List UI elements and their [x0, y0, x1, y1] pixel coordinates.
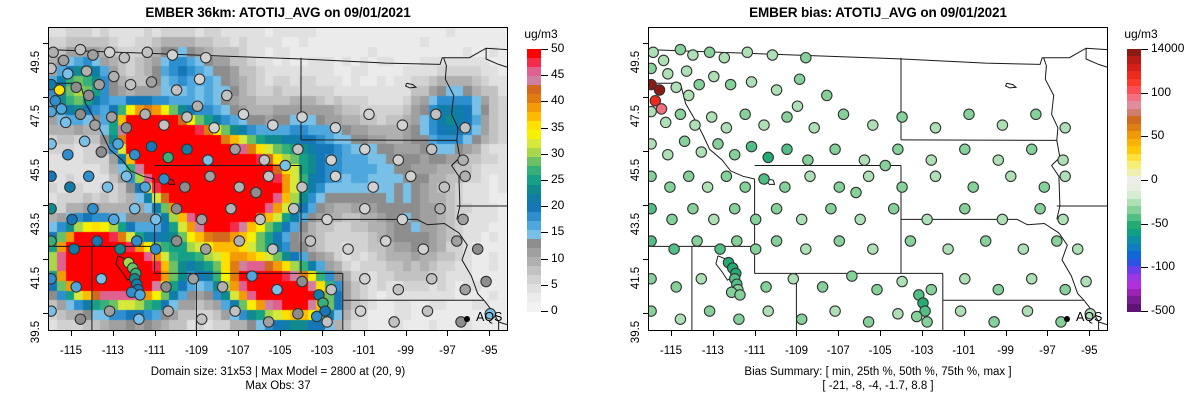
station-marker [993, 155, 1003, 165]
station-marker [1022, 306, 1032, 316]
station-marker [1058, 214, 1068, 224]
station-marker [397, 214, 407, 224]
station-marker [75, 109, 85, 119]
station-marker [1060, 123, 1070, 133]
station-marker [360, 204, 370, 214]
station-marker [171, 85, 181, 95]
station-marker [855, 214, 865, 224]
station-marker [326, 284, 336, 294]
colorbar-tick [541, 232, 548, 233]
station-marker [690, 120, 700, 130]
station-marker [792, 101, 802, 111]
y-tick [43, 43, 48, 44]
station-marker [322, 214, 332, 224]
station-marker [230, 144, 240, 154]
observation-stations-bias [649, 28, 1107, 330]
map-frame-bias: AQS [648, 27, 1108, 331]
x-tick-label: -109 [173, 345, 219, 357]
colorbar-title-model: ug/m3 [514, 27, 568, 41]
x-tick [155, 331, 156, 336]
x-tick [1047, 331, 1048, 336]
colorbar-tick [541, 154, 548, 155]
station-marker [926, 284, 936, 294]
station-marker [389, 317, 399, 327]
x-tick-label: -115 [648, 345, 694, 357]
y-tick-label: 39.5 [630, 312, 642, 352]
station-marker [863, 317, 873, 327]
y-tick [643, 259, 648, 260]
station-marker [709, 214, 719, 224]
station-marker [675, 44, 685, 54]
station-marker [209, 123, 219, 133]
x-tick-label: -113 [690, 345, 736, 357]
station-marker [649, 274, 656, 284]
colorbar-tick-label: 30 [551, 146, 564, 160]
station-marker [381, 236, 391, 246]
station-marker [771, 204, 781, 214]
station-marker [458, 155, 468, 165]
station-marker [65, 182, 75, 192]
station-marker [671, 82, 681, 92]
station-marker [880, 160, 890, 170]
station-marker [742, 47, 752, 57]
station-marker [847, 271, 857, 281]
station-marker [730, 150, 740, 160]
x-tick-label: -103 [299, 345, 345, 357]
station-marker [782, 112, 792, 122]
station-marker [751, 214, 761, 224]
y-tick-label: 47.5 [30, 96, 42, 136]
x-tick-label: -107 [815, 345, 861, 357]
station-marker [194, 74, 204, 84]
station-marker [259, 155, 269, 165]
station-marker [88, 204, 98, 214]
station-marker [656, 104, 666, 114]
caption-line2-model: Max Obs: 37 [0, 380, 600, 393]
station-marker [859, 155, 869, 165]
station-marker [171, 236, 181, 246]
y-tick [43, 205, 48, 206]
map-canvas-bias [649, 28, 1107, 330]
station-marker [681, 66, 691, 76]
x-tick-label: -97 [1024, 345, 1070, 357]
station-marker [49, 47, 58, 57]
station-marker [360, 274, 370, 284]
colorbar-gradient-bias [1127, 49, 1141, 311]
station-marker [1073, 244, 1083, 254]
station-marker [182, 112, 192, 122]
station-marker [767, 50, 777, 60]
station-marker [297, 182, 307, 192]
station-marker [649, 171, 656, 181]
aqs-legend-label-bias: AQS [1076, 310, 1102, 324]
colorbar-tick [1141, 136, 1148, 137]
station-marker [694, 79, 704, 89]
station-marker [834, 236, 844, 246]
station-marker [63, 150, 73, 160]
station-marker [343, 244, 353, 254]
station-marker [709, 71, 719, 81]
station-marker [922, 317, 932, 327]
station-marker [134, 314, 144, 324]
y-tick [43, 151, 48, 152]
x-tick [1089, 331, 1090, 336]
y-axis-ticks-bias [643, 27, 649, 331]
station-marker [140, 109, 150, 119]
station-marker [872, 284, 882, 294]
x-tick [880, 331, 881, 336]
station-marker [721, 123, 731, 133]
station-marker [205, 171, 215, 181]
colorbar-tick [1141, 267, 1148, 268]
station-marker [893, 144, 903, 154]
station-marker [251, 187, 261, 197]
station-marker [171, 204, 181, 214]
station-marker [964, 109, 974, 119]
caption-line1-model: Domain size: 31x53 | Max Model = 2800 at… [0, 366, 600, 379]
colorbar-tick-label: 50 [551, 41, 564, 55]
colorbar-tick-label: -50 [1151, 216, 1168, 230]
station-marker [121, 171, 131, 181]
station-marker [649, 106, 656, 116]
station-marker [851, 187, 861, 197]
station-marker [460, 284, 470, 294]
station-marker [293, 309, 303, 319]
station-marker [1039, 182, 1049, 192]
station-marker [135, 290, 145, 300]
station-marker [49, 274, 56, 284]
station-marker [230, 306, 240, 316]
station-marker [746, 141, 756, 151]
station-marker [1031, 109, 1041, 119]
station-marker [90, 120, 100, 130]
x-tick-label: -115 [48, 345, 94, 357]
station-marker [151, 244, 161, 254]
colorbar-gradient-model [527, 49, 541, 311]
station-marker [104, 306, 114, 316]
station-marker [735, 290, 745, 300]
station-marker [49, 306, 56, 316]
station-marker [151, 214, 161, 224]
station-marker [84, 90, 94, 100]
station-marker [671, 282, 681, 292]
station-marker [926, 155, 936, 165]
aqs-legend-label-model: AQS [476, 310, 502, 324]
station-marker [688, 204, 698, 214]
station-marker [725, 79, 735, 89]
colorbar-tick-label: -500 [1151, 303, 1175, 317]
station-marker [692, 236, 702, 246]
colorbar-tick-label: 45 [551, 67, 564, 81]
station-marker [780, 182, 790, 192]
station-marker [746, 77, 756, 87]
station-marker [163, 152, 173, 162]
x-tick-label: -105 [257, 345, 303, 357]
colorbar-tick-label: 100 [1151, 85, 1171, 99]
station-marker [121, 123, 131, 133]
station-marker [113, 139, 123, 149]
panel-bias: EMBER bias: ATOTIJ_AVG on 09/01/2021 AQS… [600, 0, 1200, 409]
station-marker [960, 144, 970, 154]
station-marker [771, 85, 781, 95]
station-marker [1052, 236, 1062, 246]
station-marker [355, 306, 365, 316]
station-marker [234, 182, 244, 192]
station-marker [649, 139, 656, 149]
station-marker [460, 123, 470, 133]
colorbar-tick-label: 35 [551, 120, 564, 134]
colorbar-tick-label: 0 [1151, 172, 1158, 186]
observation-stations-model [49, 28, 507, 330]
station-marker [893, 309, 903, 319]
colorbar-tick [1141, 180, 1148, 181]
station-marker [649, 306, 656, 316]
station-marker [79, 136, 89, 146]
station-marker [49, 236, 56, 246]
station-marker [107, 112, 117, 122]
station-marker [96, 274, 106, 284]
station-marker [663, 150, 673, 160]
station-marker [92, 236, 102, 246]
station-marker [730, 204, 740, 214]
station-marker [289, 204, 299, 214]
station-marker [1058, 155, 1068, 165]
panel-title-bias: EMBER bias: ATOTIJ_AVG on 09/01/2021 [600, 5, 1200, 20]
station-marker [679, 136, 689, 146]
y-tick [643, 151, 648, 152]
x-tick-label: -95 [466, 345, 512, 357]
y-axis-labels-bias: 49.547.545.543.541.539.5 [600, 27, 642, 331]
station-marker [943, 244, 953, 254]
station-marker [960, 204, 970, 214]
y-tick-label: 39.5 [30, 312, 42, 352]
colorbar-tick [541, 285, 548, 286]
station-marker [1035, 204, 1045, 214]
station-marker [61, 117, 71, 127]
x-tick [280, 331, 281, 336]
y-tick-label: 49.5 [630, 42, 642, 82]
station-marker [69, 244, 79, 254]
station-marker [665, 182, 675, 192]
station-marker [863, 171, 873, 181]
colorbar-tick-label: 25 [551, 172, 564, 186]
station-marker [109, 71, 119, 81]
station-marker [905, 236, 915, 246]
station-marker [393, 155, 403, 165]
station-marker [75, 314, 85, 324]
station-marker [140, 182, 150, 192]
station-marker [661, 117, 671, 127]
station-marker [669, 244, 679, 254]
station-marker [263, 317, 273, 327]
x-tick [238, 331, 239, 336]
station-marker [649, 204, 656, 214]
colorbar-tick [541, 311, 548, 312]
station-marker [771, 236, 781, 246]
station-marker [393, 284, 403, 294]
station-marker [675, 109, 685, 119]
station-marker [897, 276, 907, 286]
colorbar-tick-label: -100 [1151, 259, 1175, 273]
station-marker [868, 244, 878, 254]
station-marker [75, 44, 85, 54]
x-tick-label: -111 [732, 345, 778, 357]
x-tick-label: -107 [215, 345, 261, 357]
station-marker [1027, 274, 1037, 284]
station-marker [1081, 276, 1091, 286]
station-marker [1027, 144, 1037, 154]
colorbar-tick [541, 75, 548, 76]
x-tick-label: -97 [424, 345, 470, 357]
station-marker [1018, 244, 1028, 254]
y-tick-label: 49.5 [30, 42, 42, 82]
station-marker [268, 244, 278, 254]
colorbar-tick-label: 20 [551, 198, 564, 212]
station-marker [759, 120, 769, 130]
station-marker [102, 182, 112, 192]
station-marker [960, 274, 970, 284]
station-marker [826, 204, 836, 214]
station-marker [830, 306, 840, 316]
station-marker [360, 144, 370, 154]
station-marker [49, 139, 56, 149]
station-marker [794, 74, 804, 84]
station-marker [84, 171, 94, 181]
station-marker [922, 214, 932, 224]
station-marker [930, 171, 940, 181]
station-marker [104, 47, 114, 57]
x-tick-label: -95 [1066, 345, 1112, 357]
station-marker [71, 82, 81, 92]
station-marker [889, 204, 899, 214]
station-marker [130, 204, 140, 214]
station-marker [130, 150, 140, 160]
x-tick [922, 331, 923, 336]
y-tick [43, 97, 48, 98]
station-marker [49, 171, 56, 181]
colorbar-tick-label: 0 [551, 303, 558, 317]
station-marker [684, 171, 694, 181]
station-marker [713, 139, 723, 149]
station-marker [115, 244, 125, 254]
station-marker [759, 174, 769, 184]
station-marker [58, 55, 68, 65]
y-axis-labels-model: 49.547.545.543.541.539.5 [0, 27, 42, 331]
caption-line1-bias: Bias Summary: [ min, 25th %, 50th %, 75t… [600, 366, 1200, 379]
station-marker [49, 106, 56, 116]
station-marker [263, 171, 273, 181]
x-tick [838, 331, 839, 336]
panel-title-model: EMBER 36km: ATOTIJ_AVG on 09/01/2021 [0, 5, 600, 20]
x-tick [113, 331, 114, 336]
station-marker [406, 171, 416, 181]
station-marker [801, 244, 811, 254]
station-marker [805, 171, 815, 181]
station-marker [834, 182, 844, 192]
y-tick-label: 43.5 [630, 204, 642, 244]
colorbar-tick-label: 15 [551, 224, 564, 238]
station-marker [238, 109, 248, 119]
station-marker [658, 55, 668, 65]
station-marker [159, 174, 169, 184]
station-marker [146, 141, 156, 151]
station-marker [704, 47, 714, 57]
station-marker [427, 274, 437, 284]
station-marker [740, 109, 750, 119]
station-marker [797, 214, 807, 224]
station-marker [822, 90, 832, 100]
colorbar-tick [541, 259, 548, 260]
colorbar-bias: ug/m3 14000100500-50-100-500 [1114, 27, 1200, 337]
x-axis-labels-model: -115-113-111-109-107-105-103-101-99-97-9… [0, 345, 600, 361]
station-marker [707, 112, 717, 122]
station-marker [88, 50, 98, 60]
station-marker [63, 69, 73, 79]
colorbar-tick [1141, 93, 1148, 94]
station-marker [188, 274, 198, 284]
station-marker [761, 282, 771, 292]
station-marker [159, 120, 169, 130]
station-marker [397, 120, 407, 130]
y-tick-label: 45.5 [30, 150, 42, 190]
station-marker [439, 182, 449, 192]
station-marker [180, 182, 190, 192]
x-tick-label: -109 [773, 345, 819, 357]
station-marker [163, 306, 173, 316]
station-marker [721, 171, 731, 181]
station-marker [817, 282, 827, 292]
station-marker [56, 104, 66, 114]
station-marker [696, 274, 706, 284]
station-marker [782, 144, 792, 154]
station-marker [955, 306, 965, 316]
colorbar-tick-label: 10 [551, 251, 564, 265]
x-tick-label: -105 [857, 345, 903, 357]
colorbar-tick [1141, 311, 1148, 312]
station-marker [803, 155, 813, 165]
station-marker [751, 244, 761, 254]
station-marker [460, 171, 470, 181]
y-tick [643, 205, 648, 206]
station-marker [293, 144, 303, 154]
station-marker [71, 282, 81, 292]
station-marker [734, 314, 744, 324]
station-marker [696, 147, 706, 157]
station-marker [49, 204, 56, 214]
station-marker [182, 144, 192, 154]
panel-model: EMBER 36km: ATOTIJ_AVG on 09/01/2021 AQS… [0, 0, 600, 409]
station-marker [297, 276, 307, 286]
station-marker [989, 317, 999, 327]
station-marker [255, 214, 265, 224]
colorbar-title-bias: ug/m3 [1114, 27, 1168, 41]
station-marker [161, 282, 171, 292]
colorbar-segment [527, 302, 541, 312]
station-marker [732, 236, 742, 246]
station-marker [809, 123, 819, 133]
colorbar-tick [541, 206, 548, 207]
x-tick-label: -101 [941, 345, 987, 357]
station-marker [719, 53, 729, 63]
station-marker [81, 66, 91, 76]
colorbar-tick-label: 14000 [1151, 41, 1184, 55]
x-tick [671, 331, 672, 336]
station-marker [763, 306, 773, 316]
station-marker [272, 284, 282, 294]
station-marker [654, 85, 664, 95]
station-marker [146, 77, 156, 87]
station-marker [197, 314, 207, 324]
